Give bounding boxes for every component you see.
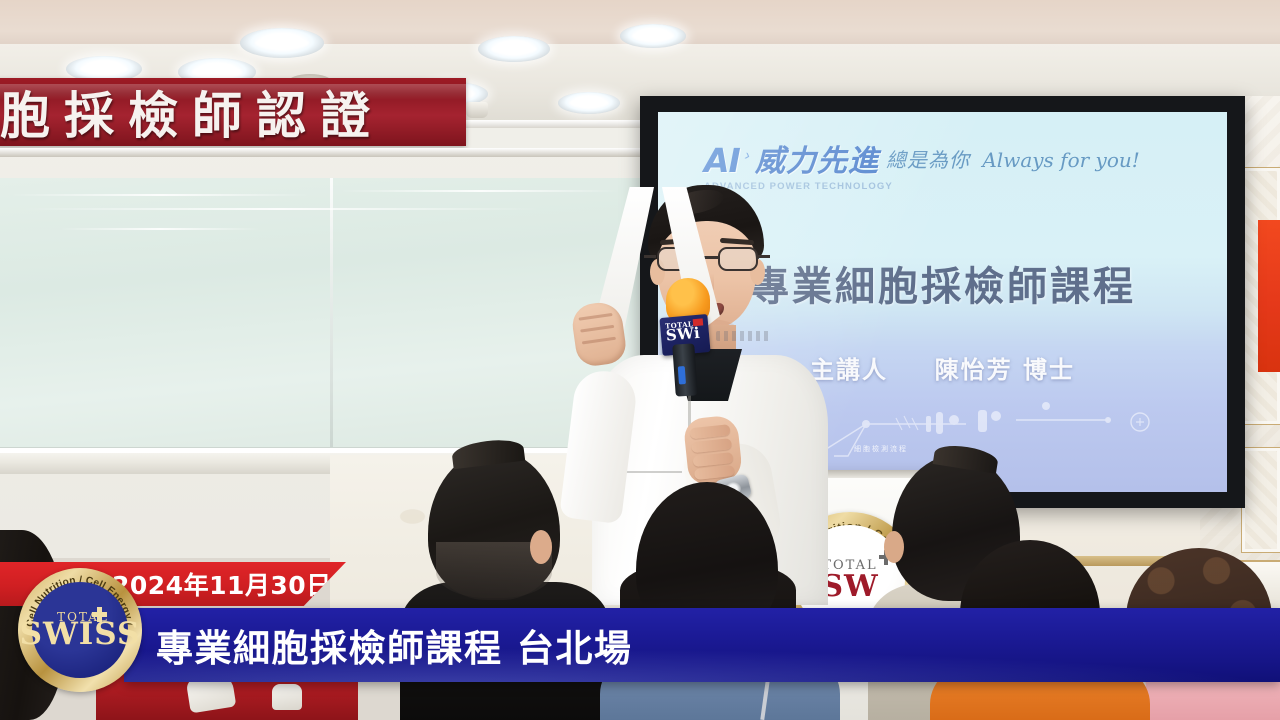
ceiling-downlight: [240, 28, 324, 58]
audience-ear: [530, 530, 552, 564]
fist-knuckle: [582, 337, 616, 345]
fist-knuckle: [580, 325, 614, 333]
logo-ai-mark: AI: [704, 141, 740, 180]
ceiling-downlight: [620, 24, 686, 48]
slogan-chinese: 總是為你: [886, 148, 970, 172]
whiteboard-glare: [60, 228, 260, 230]
downlight-bulb: [569, 99, 609, 108]
ceiling-downlight: [558, 92, 620, 114]
slide-slogan: 總是為你 Always for you!: [886, 144, 1140, 173]
hand-finger: [690, 424, 731, 439]
red-wall-scroll: [1258, 220, 1280, 372]
mic-flag-swiss: SWi: [665, 326, 700, 345]
swiss-cross-icon: [97, 607, 102, 622]
wall-banner: 胞採檢師認證: [0, 78, 466, 146]
slide-logo: AI › 威力先進 ADVANCED POWER TECHNOLOGY: [704, 136, 893, 192]
lower-third-title-bar: 專業細胞採檢師課程 台北場: [124, 608, 1280, 682]
table-prop-item: [272, 684, 302, 710]
audience-head: [428, 450, 560, 600]
total-swiss-logo-badge: Cell Nutrition / Cell Energy / Cell Mine…: [18, 568, 142, 692]
eyeglasses-icon: [652, 247, 764, 273]
downlight-bulb: [491, 44, 537, 54]
downlight-bulb: [192, 66, 242, 77]
audience-member-denim-jacket: [600, 482, 840, 720]
glasses-temple-left: [644, 255, 656, 258]
lower-third-title-text: 專業細胞採檢師課程 台北場: [124, 608, 1280, 682]
brand-emblem-core: TOTAL SWISS: [32, 582, 128, 678]
broadcast-frame: 胞採檢師認證 AI › 威力先進 ADVANCED POWER TECHNOLO…: [0, 0, 1280, 720]
ceiling-downlight: [478, 36, 550, 62]
coat-pocket: [624, 471, 682, 473]
whiteboard-glare: [20, 208, 540, 210]
diagram-caption: 細胞檢測流程: [854, 444, 908, 454]
mic-flag-red-chip: [693, 318, 704, 326]
glasses-temple-right: [758, 255, 770, 258]
logo-chinese-name: 威力先進: [755, 136, 879, 180]
presenter-hand: [683, 414, 744, 485]
brand-emblem: Cell Nutrition / Cell Energy / Cell Mine…: [18, 568, 142, 692]
fist-knuckle: [579, 313, 613, 321]
mic-handle: [672, 343, 698, 396]
slogan-english: Always for you!: [982, 148, 1139, 172]
brand-swiss-wordmark: TOTAL SWISS: [32, 582, 128, 678]
handheld-microphone: TOTAL SWi: [655, 278, 715, 396]
hand-finger: [691, 438, 732, 453]
wall-banner-text: 胞採檢師認證: [0, 78, 466, 146]
whiteboard-seam: [330, 178, 333, 447]
brand-word-swiss: SWISS: [20, 619, 141, 650]
whiteboard-glare: [10, 194, 310, 196]
glasses-lens-right: [718, 247, 758, 271]
mic-led-indicator: [678, 366, 686, 384]
sprinkler-head-icon: [466, 102, 488, 118]
wall-panel: [1242, 448, 1280, 552]
logo-tick-icon: ›: [742, 147, 752, 165]
audience-ear: [884, 531, 904, 563]
speaker-name: 陳怡芳 博士: [935, 356, 1075, 384]
downlight-bulb: [632, 31, 674, 41]
downlight-bulb: [255, 37, 309, 49]
downlight-bulb: [80, 64, 129, 74]
coat-embroidery: [716, 331, 772, 341]
banner-rail: [0, 148, 640, 157]
